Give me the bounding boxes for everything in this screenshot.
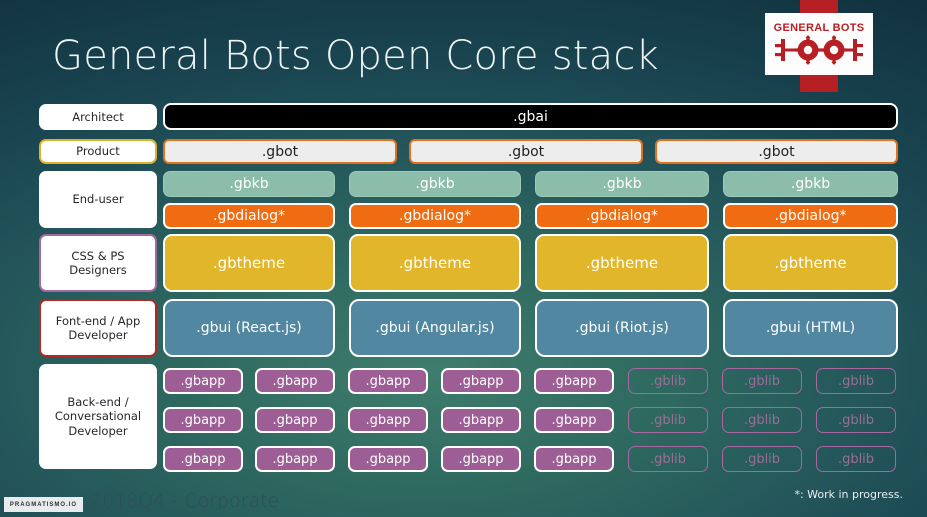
cell-gbtheme-1[interactable]: .gbtheme	[163, 234, 335, 292]
pragmatismo-logo: PRAGMATISMO.IO	[4, 497, 83, 512]
row-label-text: Product	[76, 144, 120, 158]
cell-label: .gblib	[650, 452, 686, 467]
cell-gbapp-r2c3[interactable]: .gbapp	[348, 407, 428, 433]
cell-label: .gbapp	[365, 374, 410, 389]
footer-caption: 2018Q4 - Corporate	[90, 490, 279, 512]
cell-gbkb-4[interactable]: .gbkb	[723, 171, 898, 197]
cell-label: .gbot	[262, 144, 298, 160]
row-label-architect: Architect	[39, 104, 157, 130]
cell-label: .gbtheme	[213, 254, 285, 272]
cell-gbapp-r1c1[interactable]: .gbapp	[163, 368, 243, 394]
cell-gbdialog-4[interactable]: .gbdialog*	[723, 203, 898, 229]
cell-label: .gbapp	[272, 374, 317, 389]
cell-gbui-riot[interactable]: .gbui (Riot.js)	[535, 299, 709, 357]
cell-label: .gbapp	[272, 452, 317, 467]
cell-label: .gbdialog*	[399, 208, 471, 224]
row-label-end-user: End-user	[39, 171, 157, 228]
cell-label: .gblib	[744, 374, 780, 389]
cell-gbai[interactable]: .gbai	[163, 103, 898, 130]
cell-label: .gbapp	[458, 452, 503, 467]
cell-gbot-2[interactable]: .gbot	[409, 139, 643, 164]
cell-label: .gbkb	[229, 176, 268, 192]
cell-gbdialog-2[interactable]: .gbdialog*	[349, 203, 521, 229]
cell-gbui-react[interactable]: .gbui (React.js)	[163, 299, 335, 357]
cell-label: .gblib	[838, 413, 874, 428]
cell-label: .gblib	[650, 413, 686, 428]
footnote-work-in-progress: *: Work in progress.	[794, 488, 903, 501]
cell-gbapp-r1c4[interactable]: .gbapp	[441, 368, 521, 394]
cell-gbapp-r3c4[interactable]: .gbapp	[441, 446, 521, 472]
cell-gbui-angular[interactable]: .gbui (Angular.js)	[349, 299, 521, 357]
cell-gblib-r2c2[interactable]: .gblib	[722, 407, 802, 433]
cell-label: .gbapp	[458, 413, 503, 428]
cell-label: .gbui (Riot.js)	[575, 320, 669, 336]
cell-gbdialog-3[interactable]: .gbdialog*	[535, 203, 709, 229]
cell-gbapp-r1c3[interactable]: .gbapp	[348, 368, 428, 394]
cell-label: .gbkb	[415, 176, 454, 192]
cell-gbapp-r3c5[interactable]: .gbapp	[534, 446, 614, 472]
row-label-css-ps-designers: CSS & PS Designers	[39, 234, 157, 292]
cell-gbtheme-2[interactable]: .gbtheme	[349, 234, 521, 292]
cell-gbapp-r2c5[interactable]: .gbapp	[534, 407, 614, 433]
row-label-backend-conversational-developer: Back-end / Conversational Developer	[39, 364, 157, 469]
cell-label: .gbapp	[180, 452, 225, 467]
cell-label: .gblib	[838, 452, 874, 467]
cell-gbapp-r1c2[interactable]: .gbapp	[255, 368, 335, 394]
cell-gblib-r1c2[interactable]: .gblib	[722, 368, 802, 394]
cell-gbkb-3[interactable]: .gbkb	[535, 171, 709, 197]
row-label-text: Back-end / Conversational Developer	[45, 395, 151, 437]
row-label-text: Font-end / App Developer	[45, 314, 151, 342]
row-label-text: End-user	[72, 192, 123, 206]
cell-label: .gbui (React.js)	[196, 320, 301, 336]
cell-label: .gblib	[744, 452, 780, 467]
cell-label: .gbtheme	[774, 254, 846, 272]
cell-label: .gbapp	[365, 452, 410, 467]
cell-label: .gbdialog*	[213, 208, 285, 224]
cell-gbapp-r2c4[interactable]: .gbapp	[441, 407, 521, 433]
cell-label: .gbkb	[602, 176, 641, 192]
cell-label: .gbtheme	[399, 254, 471, 272]
cell-gbapp-r1c5[interactable]: .gbapp	[534, 368, 614, 394]
cell-label: .gbui (HTML)	[766, 320, 855, 336]
cell-label: .gbapp	[180, 413, 225, 428]
cell-label: .gbdialog*	[586, 208, 658, 224]
cell-gblib-r2c3[interactable]: .gblib	[816, 407, 896, 433]
cell-gbapp-r2c2[interactable]: .gbapp	[255, 407, 335, 433]
cell-label: .gbapp	[180, 374, 225, 389]
cell-gbui-html[interactable]: .gbui (HTML)	[723, 299, 898, 357]
cell-label: .gblib	[650, 374, 686, 389]
cell-gbtheme-4[interactable]: .gbtheme	[723, 234, 898, 292]
cell-label: .gbapp	[551, 413, 596, 428]
cell-label: .gblib	[838, 374, 874, 389]
cell-gbapp-r3c3[interactable]: .gbapp	[348, 446, 428, 472]
cell-label: .gbdialog*	[775, 208, 847, 224]
cell-label: .gbui (Angular.js)	[375, 320, 494, 336]
row-label-product: Product	[39, 139, 157, 164]
cell-label: .gbot	[758, 144, 794, 160]
cell-label: .gbtheme	[586, 254, 658, 272]
cell-label: .gbot	[508, 144, 544, 160]
cell-gbot-3[interactable]: .gbot	[655, 139, 898, 164]
cell-gbtheme-3[interactable]: .gbtheme	[535, 234, 709, 292]
cell-gbapp-r2c1[interactable]: .gbapp	[163, 407, 243, 433]
cell-label: .gbapp	[365, 413, 410, 428]
cell-gblib-r3c1[interactable]: .gblib	[628, 446, 708, 472]
cell-gblib-r1c3[interactable]: .gblib	[816, 368, 896, 394]
cell-label: .gblib	[744, 413, 780, 428]
cell-gblib-r3c3[interactable]: .gblib	[816, 446, 896, 472]
cell-gblib-r3c2[interactable]: .gblib	[722, 446, 802, 472]
cell-gbot-1[interactable]: .gbot	[163, 139, 397, 164]
cell-gbkb-1[interactable]: .gbkb	[163, 171, 335, 197]
row-label-frontend-app-developer: Font-end / App Developer	[39, 299, 157, 357]
slide-canvas: GENERAL BOTS	[0, 0, 927, 517]
row-label-text: Architect	[72, 110, 124, 124]
cell-label: .gbai	[513, 109, 548, 125]
cell-gbapp-r3c1[interactable]: .gbapp	[163, 446, 243, 472]
cell-gbkb-2[interactable]: .gbkb	[349, 171, 521, 197]
cell-label: .gbkb	[791, 176, 830, 192]
row-label-text: CSS & PS Designers	[45, 249, 151, 277]
cell-gbdialog-1[interactable]: .gbdialog*	[163, 203, 335, 229]
cell-gblib-r2c1[interactable]: .gblib	[628, 407, 708, 433]
architecture-stack: Architect Product End-user CSS & PS Desi…	[0, 0, 927, 517]
cell-label: .gbapp	[551, 452, 596, 467]
cell-label: .gbapp	[458, 374, 503, 389]
cell-label: .gbapp	[551, 374, 596, 389]
pragmatismo-wordmark: PRAGMATISMO.IO	[10, 502, 77, 508]
cell-gblib-r1c1[interactable]: .gblib	[628, 368, 708, 394]
cell-label: .gbapp	[272, 413, 317, 428]
cell-gbapp-r3c2[interactable]: .gbapp	[255, 446, 335, 472]
